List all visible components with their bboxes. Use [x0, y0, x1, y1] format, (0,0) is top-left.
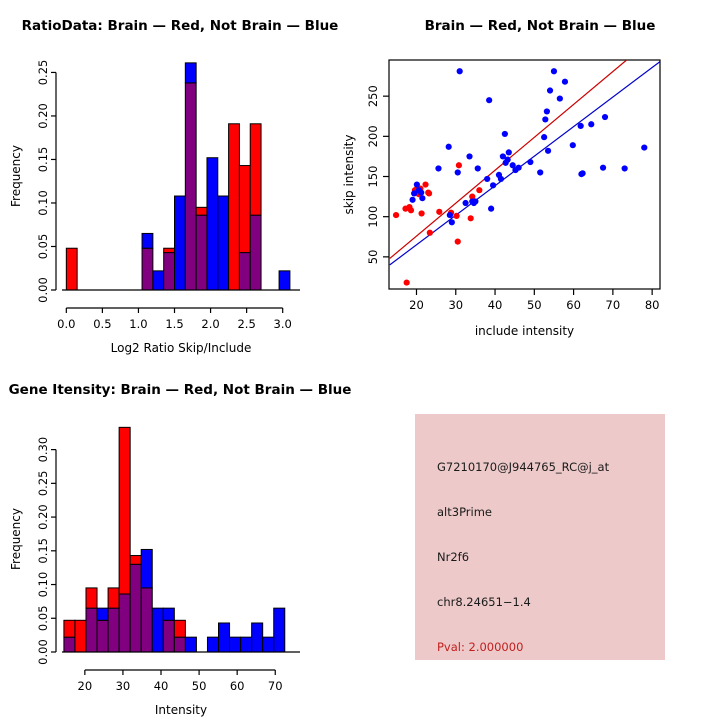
x-axis-tick-label: 60: [566, 298, 581, 312]
plot-frame: [389, 60, 660, 289]
hist-bar-brain: [108, 588, 119, 608]
scatter-point: [455, 238, 461, 244]
ratio-hist-plot: 0.000.050.100.150.200.250.00.51.01.52.02…: [0, 40, 360, 360]
hist-bar-not-brain: [152, 608, 163, 652]
x-axis-tick-label: 50: [192, 679, 207, 693]
y-axis-tick-label: 0.10: [36, 190, 50, 216]
scatter-point: [541, 134, 547, 140]
scatter-point: [505, 157, 511, 163]
gene-symbol-text: Nr2f6: [437, 550, 609, 564]
scatter-point: [527, 159, 533, 165]
scatter-point: [570, 142, 576, 148]
hist-bar-overlap: [250, 215, 261, 290]
hist-bar-brain: [86, 588, 97, 608]
scatter-point: [502, 131, 508, 137]
scatter-point: [498, 176, 504, 182]
hist-bar-not-brain: [230, 637, 241, 652]
scatter-series: [409, 68, 647, 225]
hist-bar-not-brain: [279, 271, 290, 290]
x-axis-tick-label: 20: [409, 298, 424, 312]
scatter-point: [545, 148, 551, 154]
y-axis-tick-label: 0.30: [36, 437, 50, 463]
gene-hist-title: Gene Itensity: Brain — Red, Not Brain — …: [0, 382, 360, 398]
scatter-point: [408, 207, 414, 213]
scatter-point: [462, 200, 468, 206]
ratio-hist-panel: 0.000.050.100.150.200.250.00.51.01.52.02…: [0, 40, 360, 360]
scatter-point: [602, 114, 608, 120]
hist-bar-overlap: [130, 564, 141, 652]
gene-hist-panel: 0.000.050.100.150.200.250.30203040506070…: [0, 404, 360, 720]
hist-bar-overlap: [141, 588, 152, 652]
hist-bar-overlap: [196, 215, 207, 290]
hist-bar-not-brain: [153, 271, 164, 290]
hist-bar-not-brain: [218, 196, 229, 290]
scatter-point: [418, 189, 424, 195]
axes-group: 5010015020025020304050607080include inte…: [342, 85, 659, 338]
hist-bar-not-brain: [185, 637, 196, 652]
hist-bar-brain: [164, 248, 175, 252]
hist-bar-brain: [174, 620, 185, 637]
y-axis-label: Frequency: [9, 145, 23, 207]
y-axis-tick-label: 50: [366, 250, 380, 265]
scatter-point: [419, 195, 425, 201]
scatter-point: [409, 197, 415, 203]
probe-id-text: G7210170@J944765_RC@j_at: [437, 460, 609, 474]
x-axis-tick-label: 50: [527, 298, 542, 312]
x-axis-tick-label: 30: [116, 679, 131, 693]
scatter-point: [537, 169, 543, 175]
hist-bar-not-brain: [97, 608, 108, 620]
hist-bar-not-brain: [175, 196, 186, 290]
x-axis-tick-label: 1.0: [129, 317, 147, 331]
hist-bar-overlap: [163, 620, 174, 652]
y-axis-tick-label: 200: [366, 125, 380, 147]
hist-bars-group: [66, 63, 290, 290]
scatter-point: [427, 230, 433, 236]
y-axis-tick-label: 0.05: [36, 234, 50, 260]
hist-bar-brain: [119, 427, 130, 594]
scatter-point: [562, 79, 568, 85]
scatter-point: [476, 187, 482, 193]
hist-bar-overlap: [142, 248, 153, 290]
scatter-point: [449, 219, 455, 225]
scatter-point: [468, 215, 474, 221]
scatter-plot: 5010015020025020304050607080include inte…: [360, 40, 720, 360]
x-axis-tick-label: 80: [645, 298, 660, 312]
hist-bar-brain: [130, 556, 141, 565]
scatter-point: [600, 165, 606, 171]
axes-group: 0.000.050.100.150.200.250.30203040506070…: [9, 437, 300, 717]
y-axis-tick-label: 0.00: [36, 277, 50, 303]
scatter-point: [516, 165, 522, 171]
scatter-point: [557, 95, 563, 101]
scatter-point: [446, 144, 452, 150]
hist-bar-brain: [64, 620, 75, 637]
scatter-point: [422, 181, 428, 187]
x-axis-label: include intensity: [475, 324, 574, 338]
hist-bar-brain: [75, 620, 86, 652]
scatter-content-group: [390, 60, 660, 286]
hist-bar-not-brain: [142, 233, 153, 248]
x-axis-label: Intensity: [155, 703, 207, 717]
scatter-title: Brain — Red, Not Brain — Blue: [360, 18, 720, 34]
y-axis-label: skip intensity: [342, 135, 356, 215]
pval-text: Pval: 2.000000: [437, 640, 609, 654]
probe-info-panel: G7210170@J944765_RC@j_at alt3Prime Nr2f6…: [415, 414, 665, 660]
hist-bar-brain: [229, 124, 240, 290]
y-axis-tick-label: 0.20: [36, 103, 50, 129]
hist-bar-overlap: [64, 637, 75, 652]
x-axis-tick-label: 0.5: [93, 317, 111, 331]
scatter-point: [456, 162, 462, 168]
scatter-point: [418, 210, 424, 216]
x-axis-tick-label: 30: [448, 298, 463, 312]
hist-bar-overlap: [108, 608, 119, 652]
scatter-point: [580, 170, 586, 176]
scatter-point: [544, 108, 550, 114]
hist-bar-not-brain: [163, 608, 174, 620]
scatter-point: [447, 212, 453, 218]
x-axis-tick-label: 70: [268, 679, 283, 693]
scatter-point: [453, 213, 459, 219]
scatter-point: [622, 165, 628, 171]
x-axis-tick-label: 0.0: [57, 317, 75, 331]
scatter-point: [551, 68, 557, 74]
scatter-point: [588, 121, 594, 127]
hist-bar-overlap: [164, 253, 175, 290]
x-axis-label: Log2 Ratio Skip/Include: [111, 341, 252, 355]
hist-bar-not-brain: [207, 158, 218, 290]
scatter-point: [472, 198, 478, 204]
y-axis-tick-label: 0.05: [36, 605, 50, 631]
event-type-text: alt3Prime: [437, 505, 609, 519]
hist-bar-not-brain: [185, 63, 196, 83]
y-axis-tick-label: 0.20: [36, 504, 50, 530]
hist-bars-group: [64, 427, 285, 652]
scatter-point: [484, 176, 490, 182]
scatter-point: [404, 279, 410, 285]
x-axis-tick-label: 70: [606, 298, 621, 312]
y-axis-tick-label: 0.25: [36, 471, 50, 497]
scatter-panel: 5010015020025020304050607080include inte…: [360, 40, 720, 360]
hist-bar-not-brain: [252, 623, 263, 652]
scatter-point: [488, 206, 494, 212]
x-axis-tick-label: 3.0: [274, 317, 292, 331]
scatter-point: [435, 165, 441, 171]
hist-bar-brain: [196, 207, 207, 215]
scatter-point: [641, 144, 647, 150]
y-axis-tick-label: 250: [366, 85, 380, 107]
x-axis-tick-label: 20: [78, 679, 93, 693]
hist-bar-overlap: [174, 637, 185, 652]
hist-bar-not-brain: [207, 637, 218, 652]
hist-bar-brain: [66, 248, 77, 290]
hist-bar-not-brain: [274, 608, 285, 652]
hist-bar-overlap: [86, 608, 97, 652]
y-axis-tick-label: 100: [366, 206, 380, 228]
figure-canvas: RatioData: Brain — Red, Not Brain — Blue…: [0, 0, 720, 720]
scatter-point: [542, 116, 548, 122]
scatter-point: [506, 149, 512, 155]
scatter-point: [455, 169, 461, 175]
locus-text: chr8.24651−1.4: [437, 595, 609, 609]
hist-bar-not-brain: [219, 623, 230, 652]
scatter-point: [414, 181, 420, 187]
scatter-point: [578, 123, 584, 129]
hist-bar-not-brain: [263, 637, 274, 652]
x-axis-tick-label: 2.5: [237, 317, 255, 331]
scatter-point: [466, 153, 472, 159]
x-axis-tick-label: 40: [154, 679, 169, 693]
y-axis-tick-label: 0.15: [36, 538, 50, 564]
scatter-point: [436, 209, 442, 215]
x-axis-tick-label: 1.5: [165, 317, 183, 331]
gene-hist-plot: 0.000.050.100.150.200.250.30203040506070…: [0, 404, 360, 720]
probe-info-lines: G7210170@J944765_RC@j_at alt3Prime Nr2f6…: [437, 460, 609, 654]
scatter-point: [457, 68, 463, 74]
scatter-series: [393, 162, 482, 286]
hist-bar-brain: [250, 124, 261, 215]
ratio-hist-title: RatioData: Brain — Red, Not Brain — Blue: [0, 18, 360, 34]
scatter-point: [490, 182, 496, 188]
y-axis-tick-label: 0.00: [36, 639, 50, 665]
x-axis-tick-label: 2.0: [201, 317, 219, 331]
scatter-point: [547, 87, 553, 93]
hist-bar-overlap: [119, 594, 130, 652]
hist-bar-not-brain: [141, 549, 152, 587]
scatter-point: [426, 190, 432, 196]
y-axis-tick-label: 0.15: [36, 147, 50, 173]
hist-bar-overlap: [185, 83, 196, 290]
scatter-point: [486, 97, 492, 103]
y-axis-tick-label: 150: [366, 166, 380, 188]
scatter-point: [475, 165, 481, 171]
x-axis-tick-label: 40: [488, 298, 503, 312]
hist-bar-brain: [239, 166, 250, 253]
scatter-point: [393, 212, 399, 218]
y-axis-tick-label: 0.10: [36, 572, 50, 598]
y-axis-tick-label: 0.25: [36, 60, 50, 86]
y-axis-label: Frequency: [9, 508, 23, 570]
hist-bar-overlap: [97, 620, 108, 652]
x-axis-tick-label: 60: [230, 679, 245, 693]
hist-bar-not-brain: [241, 637, 252, 652]
hist-bar-overlap: [239, 253, 250, 290]
